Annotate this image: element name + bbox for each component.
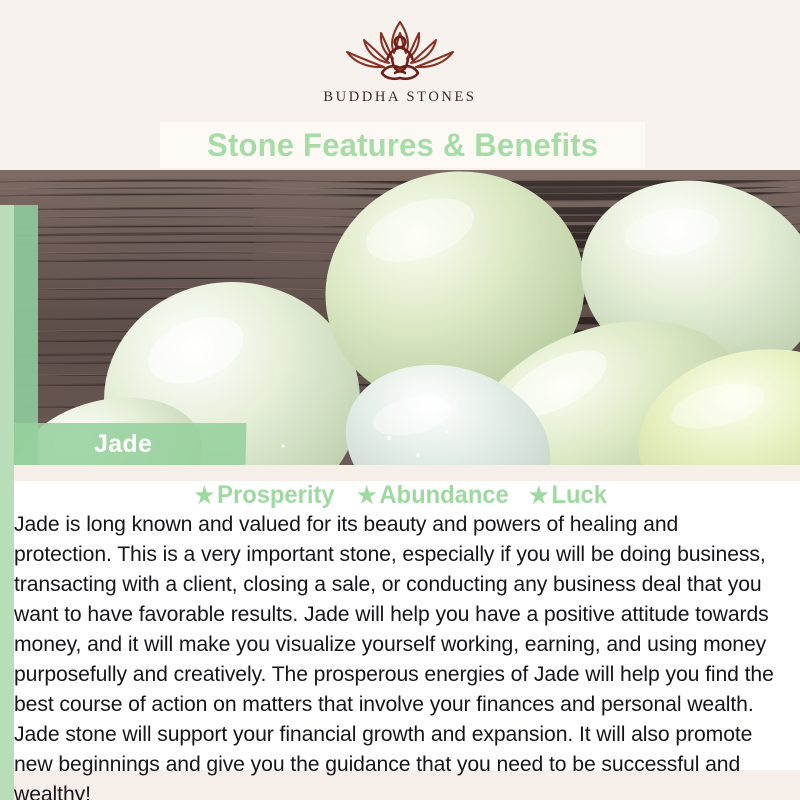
title-banner: Stone Features & Benefits [160,122,645,168]
star-icon: ★ [195,482,215,508]
benefit-label: Abundance [379,481,508,509]
brand-name: BUDDHA STONES [0,89,800,106]
benefit-item: ★Luck [529,481,607,510]
star-icon: ★ [357,482,377,508]
benefit-item: ★Abundance [357,481,509,510]
stone-photo [0,170,800,465]
stone-info-poster: BUDDHA STONES [0,0,800,800]
stone-name: Jade [94,430,152,459]
page-title: Stone Features & Benefits [207,127,598,164]
brand-logo: BUDDHA STONES [0,16,800,106]
benefit-label: Prosperity [218,481,335,509]
benefit-label: Luck [551,481,606,509]
lotus-meditation-icon [337,16,463,86]
stone-name-banner: Jade [13,423,246,465]
star-icon: ★ [529,482,549,508]
divider-strip [0,465,800,481]
benefit-item: ★Prosperity [195,481,335,510]
stone-description: Jade is long known and valued for its be… [14,509,780,800]
benefits-list: ★Prosperity★Abundance★Luck [0,481,800,510]
